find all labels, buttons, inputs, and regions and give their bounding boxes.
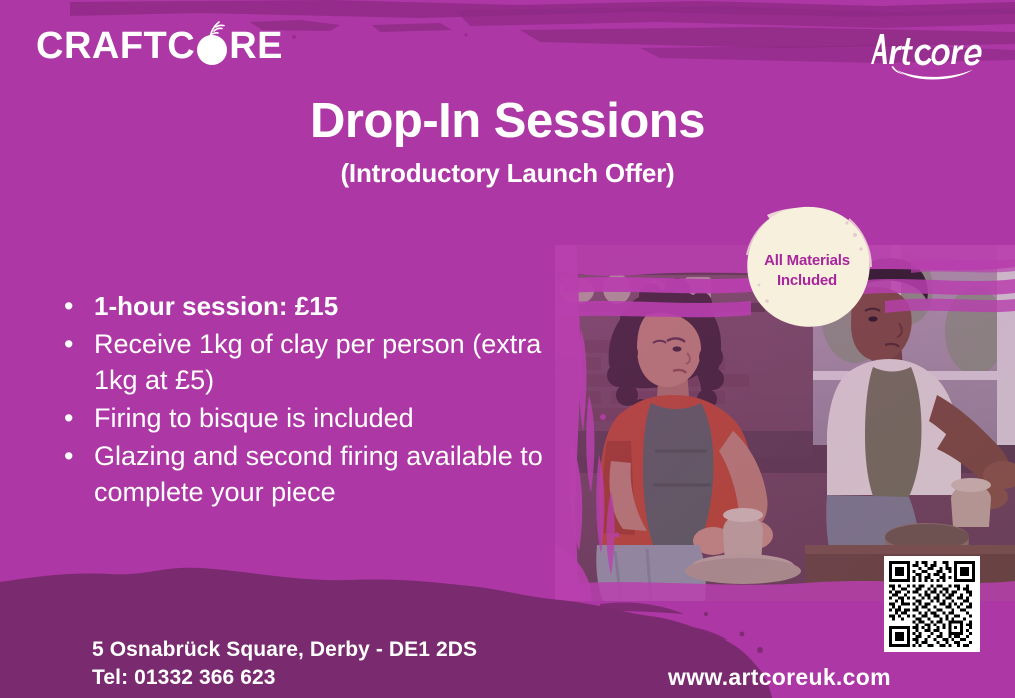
bullet-dot-icon: • [50, 400, 94, 436]
craftcore-logo: CRAFTC RE [36, 24, 283, 68]
bullet-label: 1-hour session: £15 [94, 288, 550, 324]
qr-code[interactable] [884, 556, 980, 652]
artcore-logo [863, 18, 989, 80]
page-subtitle: (Introductory Launch Offer) [0, 158, 1015, 189]
badge-label: All Materials Included [737, 251, 877, 290]
craftcore-pot-icon [195, 27, 229, 65]
bullet-dot-icon: • [50, 438, 94, 474]
craftcore-logo-text-2: RE [229, 27, 283, 65]
bullet-label: Receive 1kg of clay per person (extra 1k… [94, 326, 550, 398]
all-materials-included-badge: All Materials Included [737, 205, 877, 330]
bullet-dot-icon: • [50, 326, 94, 362]
bullet-label: Firing to bisque is included [94, 400, 550, 436]
badge-line-2: Included [737, 271, 877, 291]
footer-website[interactable]: www.artcoreuk.com [668, 664, 891, 691]
list-item: • Receive 1kg of clay per person (extra … [50, 326, 550, 398]
craftcore-logo-text-1: CRAFTC [36, 27, 195, 65]
footer-address: 5 Osnabrück Square, Derby - DE1 2DS Tel:… [92, 636, 477, 691]
list-item: • Glazing and second firing available to… [50, 438, 550, 510]
bullet-label: Glazing and second firing available to c… [94, 438, 550, 510]
flyer-canvas: CRAFTC RE [0, 0, 1015, 698]
offer-bullet-list: • 1-hour session: £15 • Receive 1kg of c… [50, 288, 550, 512]
list-item: • Firing to bisque is included [50, 400, 550, 436]
address-line: 5 Osnabrück Square, Derby - DE1 2DS [92, 636, 477, 664]
page-title: Drop-In Sessions [0, 96, 1015, 147]
bullet-dot-icon: • [50, 288, 94, 324]
phone-line: Tel: 01332 366 623 [92, 664, 477, 692]
badge-line-1: All Materials [737, 251, 877, 271]
list-item: • 1-hour session: £15 [50, 288, 550, 324]
